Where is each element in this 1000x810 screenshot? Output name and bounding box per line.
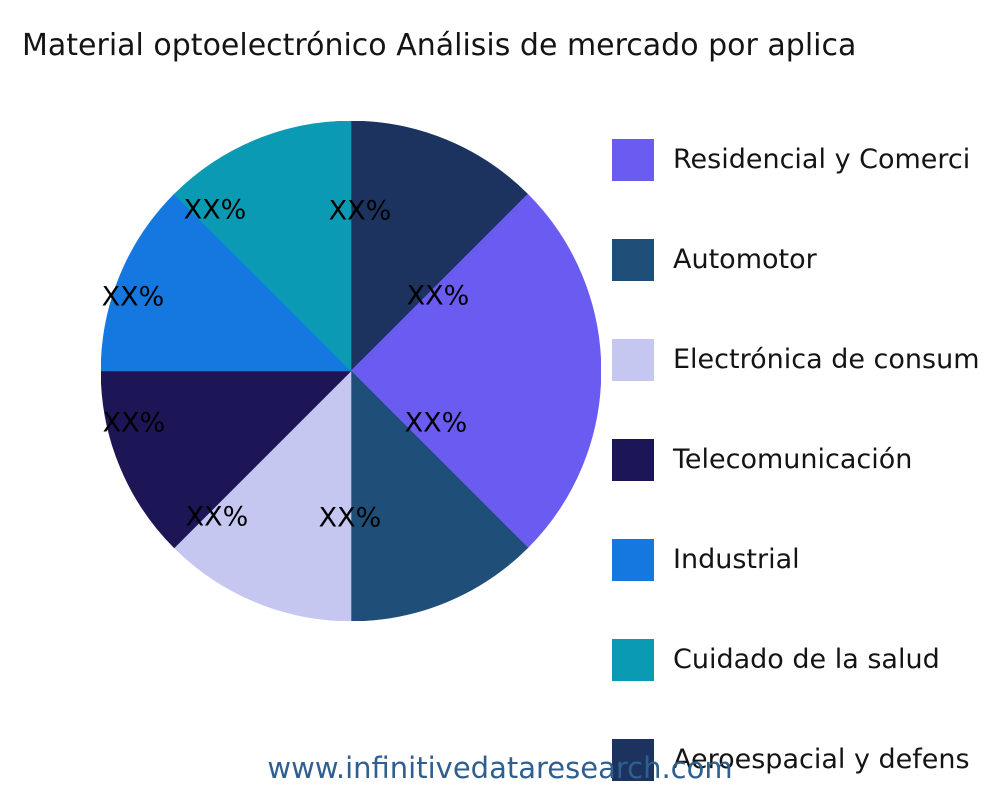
legend-color-swatch — [612, 339, 654, 381]
legend-item[interactable]: Electrónica de consum — [612, 310, 1000, 410]
page-title: Material optoelectrónico Análisis de mer… — [22, 26, 1000, 66]
pie-slice-label: XX% — [102, 282, 165, 313]
chart-legend: Residencial y ComerciAutomotorElectrónic… — [612, 110, 1000, 810]
legend-item[interactable]: Automotor — [612, 210, 1000, 310]
legend-item[interactable]: Telecomunicación — [612, 410, 1000, 510]
legend-item-label: Telecomunicación — [673, 445, 912, 475]
legend-item-label: Electrónica de consum — [673, 345, 980, 375]
pie-slice-label: XX% — [186, 502, 249, 533]
legend-item-label: Cuidado de la salud — [673, 645, 940, 675]
pie-chart: XX%XX%XX%XX%XX%XX%XX%XX% — [101, 121, 601, 621]
pie-slice-label: XX% — [329, 196, 392, 227]
legend-item[interactable]: Cuidado de la salud — [612, 610, 1000, 710]
pie-chart-svg: XX%XX%XX%XX%XX%XX%XX%XX% — [101, 121, 601, 621]
source-url[interactable]: www.infinitivedataresearch.com — [0, 748, 1000, 788]
pie-slice-label: XX% — [405, 408, 468, 439]
legend-item-label: Industrial — [673, 545, 800, 575]
legend-item-label: Residencial y Comerci — [673, 145, 970, 175]
pie-slice-label: XX% — [103, 408, 166, 439]
pie-slice-label: XX% — [184, 195, 247, 226]
legend-color-swatch — [612, 239, 654, 281]
legend-item[interactable]: Residencial y Comerci — [612, 110, 1000, 210]
pie-slice-label: XX% — [319, 503, 382, 534]
legend-color-swatch — [612, 439, 654, 481]
legend-item[interactable]: Industrial — [612, 510, 1000, 610]
legend-color-swatch — [612, 539, 654, 581]
legend-item-label: Automotor — [673, 245, 817, 275]
legend-color-swatch — [612, 639, 654, 681]
legend-color-swatch — [612, 139, 654, 181]
pie-slice-label: XX% — [407, 281, 470, 312]
